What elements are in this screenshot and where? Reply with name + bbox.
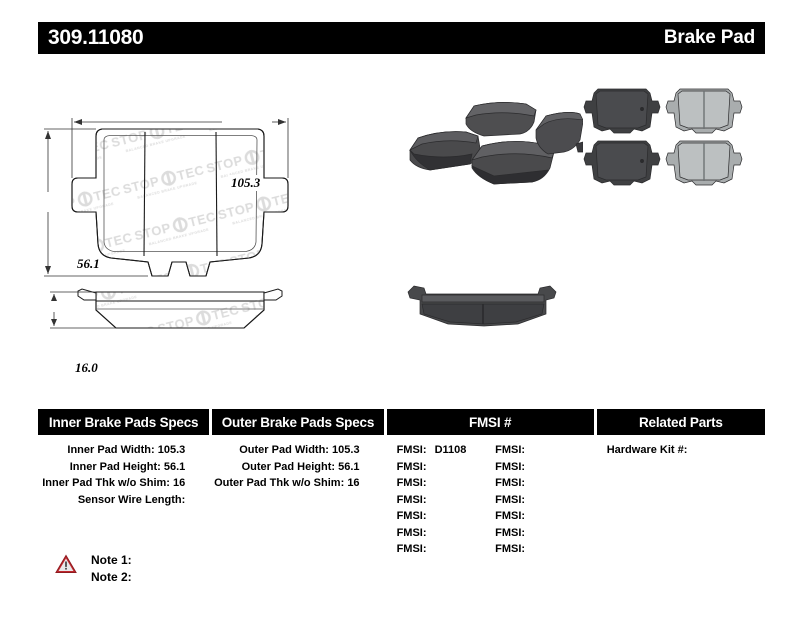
fmsi-label: FMSI: — [397, 510, 427, 522]
notes-section: Note 1: Note 2: — [55, 552, 132, 586]
fmsi-label: FMSI: — [495, 510, 525, 522]
column-header-fmsi: FMSI # — [387, 409, 594, 435]
fmsi-row: FMSI: — [397, 492, 496, 509]
note-label: Note 1: — [91, 553, 132, 567]
spec-row: Outer Pad Height: 56.1 — [212, 459, 383, 476]
spec-label: Inner Pad Width: — [67, 444, 154, 456]
fmsi-label: FMSI: — [495, 494, 525, 506]
fmsi-value — [427, 543, 432, 555]
fmsi-label: FMSI: — [397, 477, 427, 489]
fmsi-row: FMSI: — [495, 525, 594, 542]
fmsi-row: FMSI: — [495, 459, 594, 476]
related-part-row: Hardware Kit #: — [607, 442, 765, 459]
fmsi-label: FMSI: — [397, 444, 427, 456]
column-header-related-parts: Related Parts — [597, 409, 765, 435]
note-label: Note 2: — [91, 570, 132, 584]
part-number: 309.11080 — [48, 26, 143, 50]
fmsi-label: FMSI: — [397, 461, 427, 473]
fmsi-row: FMSI: — [397, 459, 496, 476]
fmsi-value — [525, 543, 530, 555]
fmsi-label: FMSI: — [397, 543, 427, 555]
drawing-area: STOP TECH BALANCED BRAKE UPGRADE — [0, 60, 800, 390]
spec-row: Outer Pad Thk w/o Shim: 16 — [212, 475, 383, 492]
spec-value: 16 — [347, 477, 359, 489]
fmsi-value — [525, 494, 530, 506]
note-row: Note 1: — [91, 552, 132, 569]
dimension-thickness-label: 16.0 — [72, 360, 101, 376]
fmsi-subcolumn-left: FMSI: D1108 FMSI: FMSI: FMSI: — [397, 442, 496, 558]
related-part-label: Hardware Kit #: — [607, 444, 688, 456]
specs-column-related-parts: Related Parts Hardware Kit #: — [597, 409, 765, 558]
fmsi-row: FMSI: — [495, 541, 594, 558]
specs-column-inner: Inner Brake Pads Specs Inner Pad Width: … — [38, 409, 209, 558]
fmsi-value — [525, 527, 530, 539]
fmsi-row: FMSI: — [495, 442, 594, 459]
fmsi-label: FMSI: — [495, 543, 525, 555]
spec-value: 105.3 — [332, 444, 360, 456]
spec-row: Inner Pad Width: 105.3 — [38, 442, 209, 459]
pad-side-view — [78, 285, 290, 340]
fmsi-row: FMSI: — [397, 525, 496, 542]
specs-table: Inner Brake Pads Specs Inner Pad Width: … — [38, 409, 765, 558]
fmsi-label: FMSI: — [397, 494, 427, 506]
spec-label: Inner Pad Thk w/o Shim: — [42, 477, 170, 489]
spec-value: 56.1 — [164, 461, 185, 473]
spec-row: Inner Pad Thk w/o Shim: 16 — [38, 475, 209, 492]
fmsi-value — [427, 461, 432, 473]
product-photo-angled-set — [408, 88, 583, 203]
fmsi-label: FMSI: — [397, 527, 427, 539]
column-header-outer: Outer Brake Pads Specs — [212, 409, 383, 435]
fmsi-row: FMSI: — [495, 492, 594, 509]
spec-label: Outer Pad Height: — [242, 461, 336, 473]
spec-value: 16 — [173, 477, 185, 489]
fmsi-value — [525, 461, 530, 473]
fmsi-value — [427, 494, 432, 506]
dimension-height-label: 56.1 — [74, 256, 103, 272]
specs-column-outer: Outer Brake Pads Specs Outer Pad Width: … — [212, 409, 383, 558]
warning-triangle-icon — [55, 554, 77, 574]
fmsi-row: FMSI: — [397, 475, 496, 492]
spec-row: Sensor Wire Length: — [38, 492, 209, 509]
spec-sheet: 309.11080 Brake Pad STOP TECH BALANCED B… — [0, 0, 800, 619]
spec-label: Outer Pad Width: — [239, 444, 329, 456]
spec-value: 56.1 — [338, 461, 359, 473]
product-photo-edge-view — [398, 278, 568, 340]
fmsi-label: FMSI: — [495, 527, 525, 539]
fmsi-row: FMSI: — [397, 508, 496, 525]
fmsi-value — [427, 477, 432, 489]
fmsi-row: FMSI: — [495, 475, 594, 492]
fmsi-label: FMSI: — [495, 444, 525, 456]
note-row: Note 2: — [91, 569, 132, 586]
fmsi-row: FMSI: D1108 — [397, 442, 496, 459]
fmsi-value — [427, 527, 432, 539]
product-photo-pad-grid — [580, 85, 752, 195]
spec-label: Inner Pad Height: — [70, 461, 161, 473]
fmsi-value — [525, 444, 530, 456]
spec-value: 105.3 — [158, 444, 186, 456]
column-header-inner: Inner Brake Pads Specs — [38, 409, 209, 435]
specs-column-fmsi: FMSI # FMSI: D1108 FMSI: FMSI: — [387, 409, 594, 558]
fmsi-row: FMSI: — [495, 508, 594, 525]
spec-row: Inner Pad Height: 56.1 — [38, 459, 209, 476]
fmsi-value — [427, 510, 432, 522]
header-bar: 309.11080 Brake Pad — [38, 22, 765, 54]
fmsi-subcolumn-right: FMSI: FMSI: FMSI: FMSI: — [495, 442, 594, 558]
spec-row: Outer Pad Width: 105.3 — [212, 442, 383, 459]
spec-label: Sensor Wire Length: — [78, 494, 185, 506]
fmsi-value — [525, 477, 530, 489]
fmsi-value — [525, 510, 530, 522]
fmsi-value: D1108 — [430, 444, 467, 456]
spec-label: Outer Pad Thk w/o Shim: — [214, 477, 344, 489]
fmsi-label: FMSI: — [495, 477, 525, 489]
fmsi-label: FMSI: — [495, 461, 525, 473]
dimension-width-label: 105.3 — [228, 175, 263, 191]
fmsi-row: FMSI: — [397, 541, 496, 558]
product-name: Brake Pad — [664, 27, 755, 49]
